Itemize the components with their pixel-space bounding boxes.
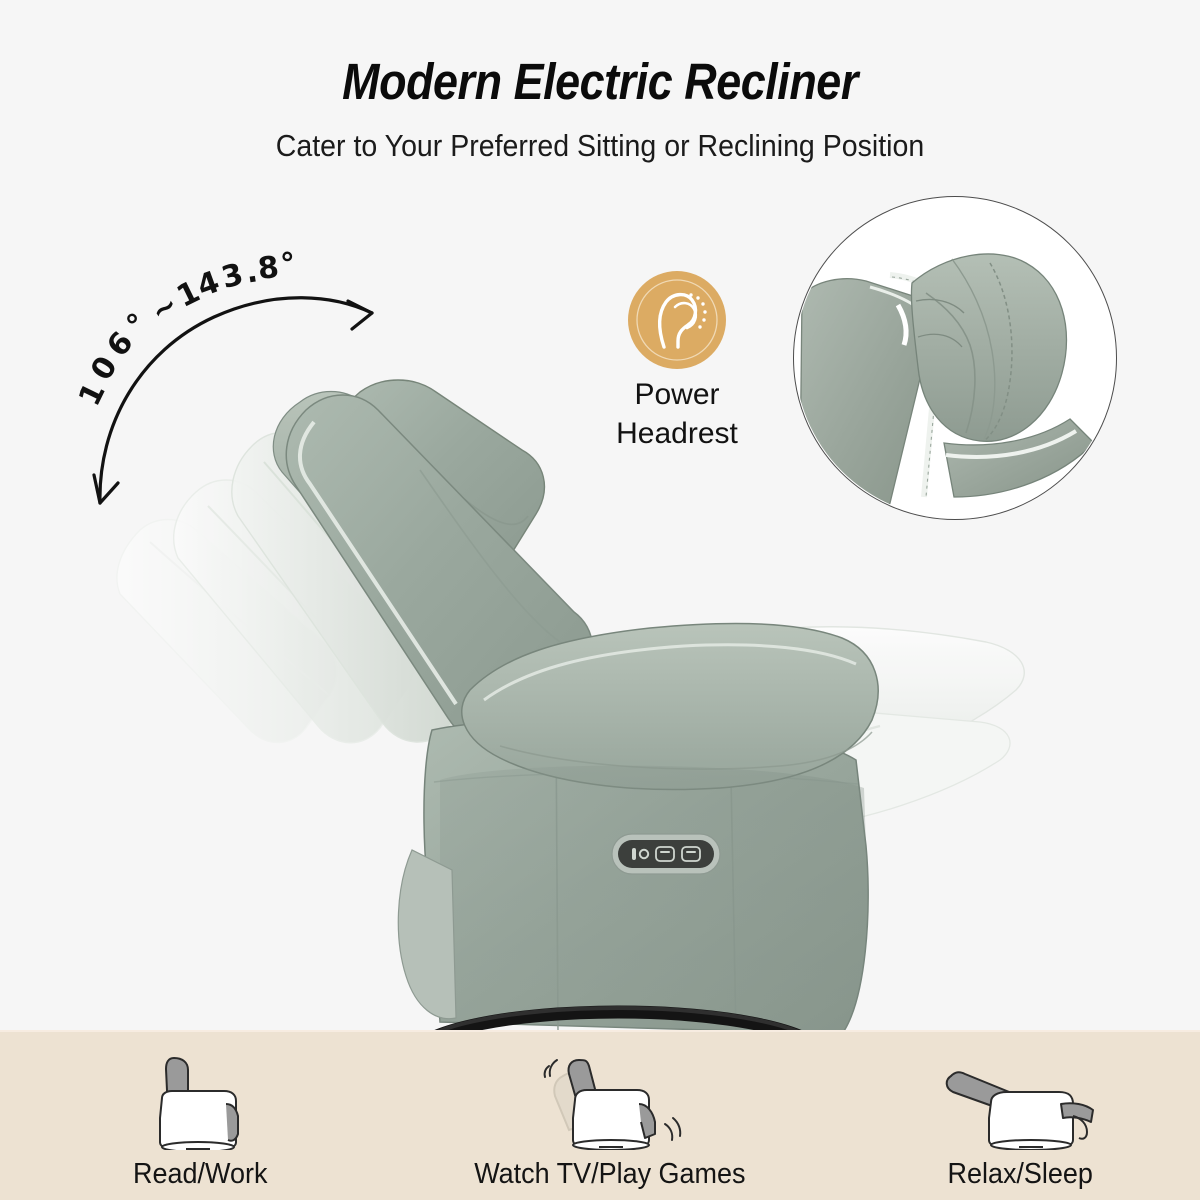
power-control-panel <box>612 834 720 874</box>
power-headrest-label: Power Headrest <box>560 375 794 453</box>
chair-reclined-icon <box>525 1046 695 1150</box>
chair-side-panel <box>440 766 868 1030</box>
page-title: Modern Electric Recliner <box>72 52 1128 111</box>
feature-label: Watch TV/Play Games <box>474 1158 745 1191</box>
power-headrest-badge <box>628 271 726 369</box>
feature-relax-sleep: Relax/Sleep <box>860 1032 1180 1200</box>
chair-upright-icon <box>130 1046 270 1150</box>
feature-read-work: Read/Work <box>40 1032 360 1200</box>
infographic-page: Modern Electric Recliner Cater to Your P… <box>0 0 1200 1200</box>
headrest-icon <box>628 271 726 369</box>
feature-label: Relax/Sleep <box>947 1158 1092 1191</box>
feature-band: Read/Work <box>0 1030 1200 1200</box>
chair-flat-icon <box>935 1046 1105 1150</box>
recline-angle-arc <box>60 255 410 525</box>
feature-label: Read/Work <box>133 1158 267 1191</box>
hero-section: Modern Electric Recliner Cater to Your P… <box>0 0 1200 1030</box>
headrest-closeup-inset <box>793 196 1117 520</box>
recline-angle-annotation: 1 0 6 ° ~ 1 4 3 . 8 ° <box>60 255 410 525</box>
feature-watch-tv: Watch TV/Play Games <box>410 1032 810 1200</box>
chair-swivel-column <box>398 850 456 1019</box>
page-subtitle: Cater to Your Preferred Sitting or Recli… <box>48 128 1152 164</box>
